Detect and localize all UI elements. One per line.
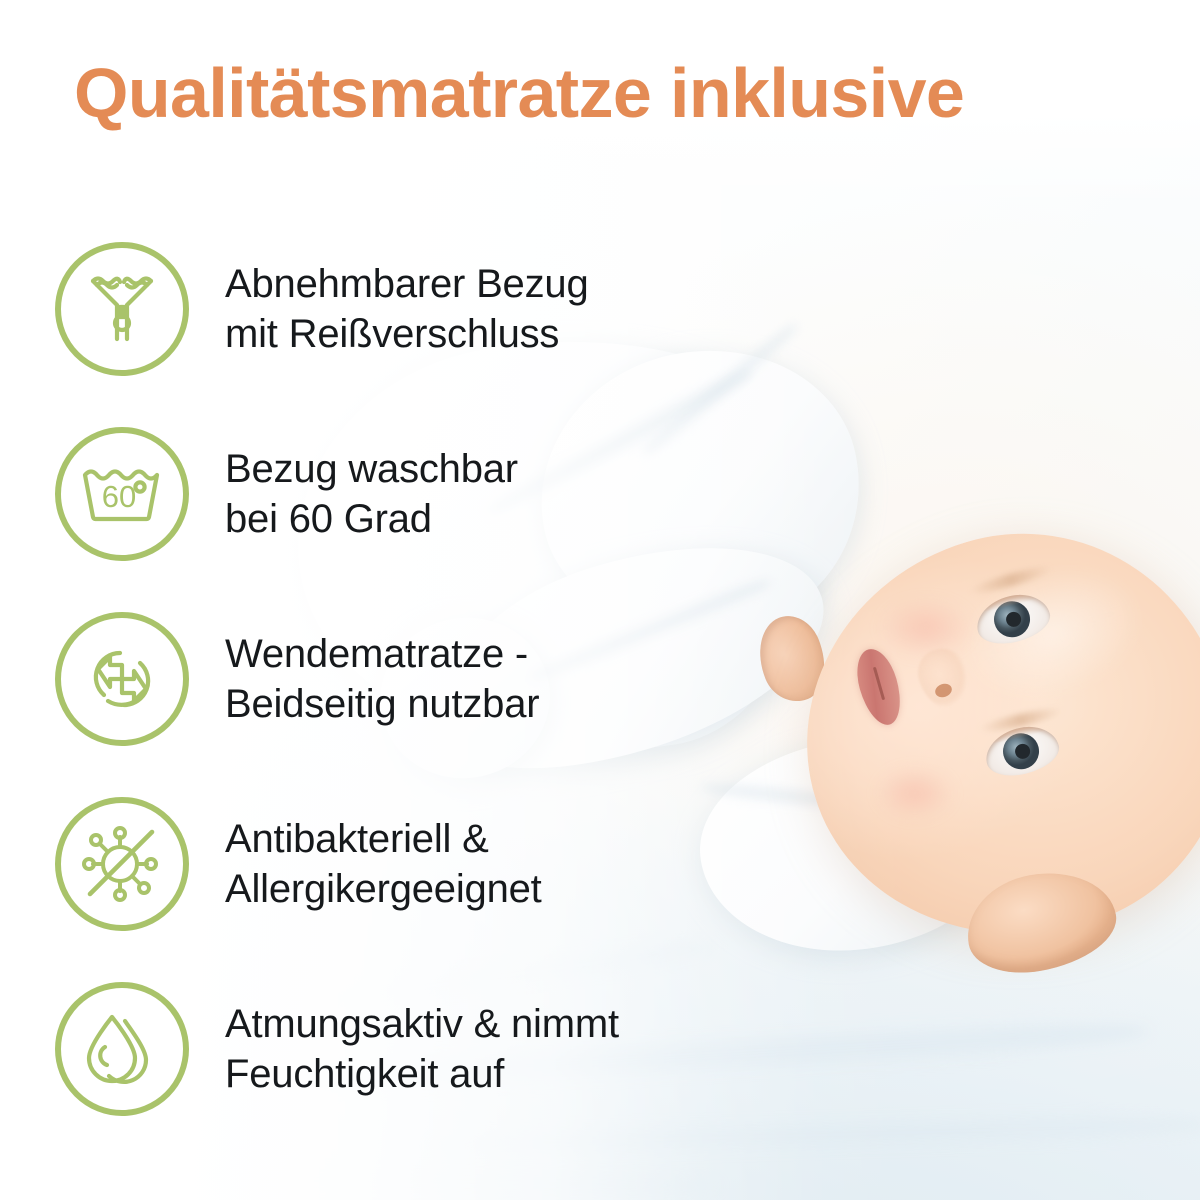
- list-item: Atmungsaktiv & nimmt Feuchtigkeit auf: [55, 956, 775, 1141]
- feature-label-line1: Antibakteriell &: [225, 814, 542, 864]
- list-item: 60 Bezug waschbar bei 60 Grad: [55, 401, 775, 586]
- wash-tub-60-degrees-icon: 60: [75, 447, 169, 541]
- feature-icon-badge: [55, 242, 189, 376]
- feature-label: Antibakteriell & Allergikergeeignet: [225, 814, 542, 914]
- feature-label-line1: Abnehmbarer Bezug: [225, 259, 589, 309]
- feature-icon-badge: 60: [55, 427, 189, 561]
- feature-label-line2: bei 60 Grad: [225, 494, 518, 544]
- reversible-arrows-icon: [76, 633, 168, 725]
- zipper-icon: [76, 263, 168, 355]
- page-title: Qualitätsmatratze inklusive: [74, 58, 1154, 128]
- feature-label-line2: mit Reißverschluss: [225, 309, 589, 359]
- feature-label: Wendematratze - Beidseitig nutzbar: [225, 629, 539, 729]
- feature-label-line2: Beidseitig nutzbar: [225, 679, 539, 729]
- product-feature-poster: Qualitätsmatratze inklusive: [0, 0, 1200, 1200]
- feature-label-line1: Bezug waschbar: [225, 444, 518, 494]
- feature-icon-badge: [55, 612, 189, 746]
- list-item: Abnehmbarer Bezug mit Reißverschluss: [55, 216, 775, 401]
- svg-text:60: 60: [102, 479, 136, 514]
- list-item: Wendematratze - Beidseitig nutzbar: [55, 586, 775, 771]
- feature-icon-badge: [55, 797, 189, 931]
- water-droplets-icon: [76, 1003, 168, 1095]
- feature-label: Atmungsaktiv & nimmt Feuchtigkeit auf: [225, 999, 619, 1099]
- feature-label: Bezug waschbar bei 60 Grad: [225, 444, 518, 544]
- feature-label: Abnehmbarer Bezug mit Reißverschluss: [225, 259, 589, 359]
- list-item: Antibakteriell & Allergikergeeignet: [55, 771, 775, 956]
- feature-icon-badge: [55, 982, 189, 1116]
- no-bacteria-icon: [76, 818, 168, 910]
- feature-list: Abnehmbarer Bezug mit Reißverschluss 60: [55, 216, 775, 1141]
- feature-label-line2: Feuchtigkeit auf: [225, 1049, 619, 1099]
- poster-content: Qualitätsmatratze inklusive: [0, 0, 1200, 1200]
- feature-label-line2: Allergikergeeignet: [225, 864, 542, 914]
- feature-label-line1: Wendematratze -: [225, 629, 539, 679]
- feature-label-line1: Atmungsaktiv & nimmt: [225, 999, 619, 1049]
